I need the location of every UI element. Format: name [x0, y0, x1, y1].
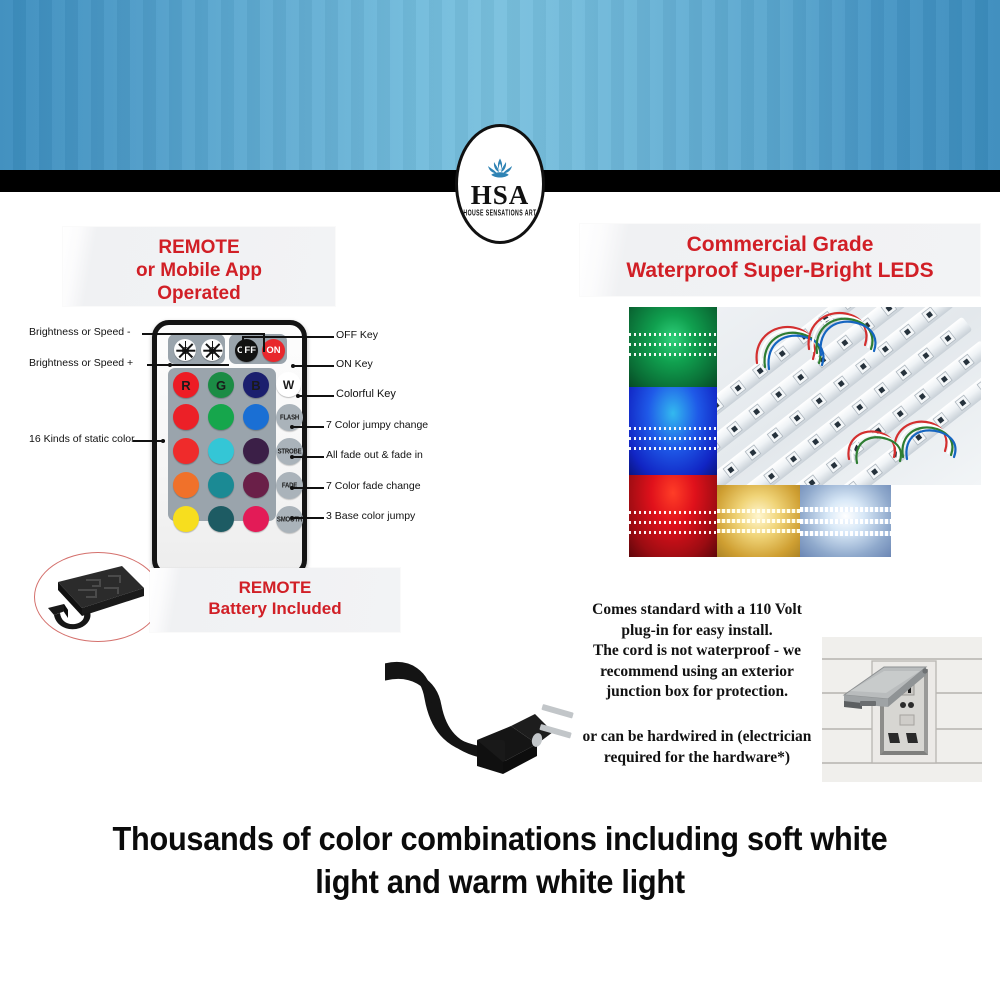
flash-button-label: FLASH — [280, 414, 299, 422]
sun-icon — [204, 342, 221, 359]
remote-button-smooth[interactable]: SMOOTH — [276, 506, 303, 533]
strobe-button-label: STROBE — [278, 448, 302, 456]
callout-on-key: ON Key — [336, 358, 373, 370]
callout-leader-line — [147, 364, 229, 366]
callout-leader-line — [292, 517, 324, 519]
off-button-label: OFF — [237, 346, 256, 356]
remote-button-on[interactable]: ON — [262, 339, 285, 362]
green-button-label: G — [216, 379, 226, 392]
callout-dot — [290, 455, 294, 459]
on-button-label: ON — [266, 346, 280, 356]
remote-button-blue[interactable]: B — [243, 372, 269, 398]
cord-text-line: Comes standard with a 110 Volt — [552, 600, 842, 621]
cool-white-led-swatch — [800, 475, 891, 557]
footer-caption-line1: Thousands of color combinations includin… — [35, 818, 965, 861]
callout-colorful-key: Colorful Key — [336, 388, 396, 400]
callout-dot — [168, 363, 172, 367]
leds-header-text: Commercial Grade Waterproof Super-Bright… — [580, 224, 980, 283]
led-photo-collage — [629, 307, 981, 585]
remote-color-button[interactable] — [243, 506, 269, 532]
remote-color-button[interactable] — [173, 404, 199, 430]
power-cord-photo — [385, 640, 600, 785]
exterior-junction-box-photo — [822, 637, 982, 782]
cord-text-line: plug-in for easy install. — [552, 621, 842, 642]
remote-color-button[interactable] — [243, 404, 269, 430]
logo-wordmark: HSA — [471, 182, 530, 209]
remote-battery-photo — [34, 552, 160, 640]
callout-static-colors: 16 Kinds of static color — [29, 433, 135, 445]
callout-leader-line — [292, 426, 324, 428]
infographic-page: HSA HOUSE SENSATIONS ART REMOTE or Mobil… — [0, 0, 1000, 1000]
brand-logo: HSA HOUSE SENSATIONS ART — [455, 124, 545, 244]
remote-color-button[interactable] — [208, 472, 234, 498]
remote-color-button[interactable] — [208, 506, 234, 532]
callout-leader-line — [292, 487, 324, 489]
rgb-led-modules-photo — [717, 307, 981, 485]
callout-dot — [290, 486, 294, 490]
green-led-swatch — [629, 307, 717, 387]
footer-caption-line2: light and warm white light — [35, 861, 965, 904]
remote-button-strobe[interactable]: STROBE — [276, 438, 303, 465]
callout-leader-line — [242, 336, 334, 338]
sun-icon — [177, 342, 194, 359]
logo-oval: HSA HOUSE SENSATIONS ART — [455, 124, 545, 244]
remote-color-button[interactable] — [208, 438, 234, 464]
callout-strobe: All fade out & fade in — [326, 449, 423, 461]
callout-leader-line — [298, 395, 334, 397]
lotus-icon — [484, 156, 516, 180]
leds-header-panel: Commercial Grade Waterproof Super-Bright… — [580, 224, 980, 296]
callout-dot — [291, 364, 295, 368]
remote-header-line1: REMOTE — [63, 236, 335, 259]
callout-brightness-up: Brightness or Speed + — [29, 357, 133, 369]
callout-fade: 7 Color fade change — [326, 480, 421, 492]
remote-color-button[interactable] — [243, 472, 269, 498]
remote-button-fade[interactable]: FADE — [276, 472, 303, 499]
red-led-swatch — [629, 475, 717, 557]
remote-color-button[interactable] — [173, 472, 199, 498]
blue-button-label: B — [251, 379, 260, 392]
callout-brightness-down: Brightness or Speed - — [29, 326, 131, 338]
warm-white-led-swatch — [717, 475, 800, 557]
blue-led-swatch — [629, 387, 717, 475]
battery-header-text: REMOTE Battery Included — [150, 568, 400, 619]
remote-header-panel: REMOTE or Mobile App Operated — [63, 227, 335, 306]
battery-header-panel: REMOTE Battery Included — [150, 568, 400, 632]
callout-dot — [296, 394, 300, 398]
remote-button-off[interactable]: OFF — [235, 339, 258, 362]
callout-leader-line — [142, 333, 264, 335]
remote-color-button[interactable] — [208, 404, 234, 430]
remote-button-green[interactable]: G — [208, 372, 234, 398]
red-button-label: R — [181, 379, 190, 392]
footer-caption: Thousands of color combinations includin… — [35, 818, 965, 904]
remote-button-red[interactable]: R — [173, 372, 199, 398]
callout-dot — [290, 425, 294, 429]
callout-leader-line — [293, 365, 334, 367]
callout-leader-line — [242, 336, 244, 353]
battery-header-line2: Battery Included — [150, 599, 400, 620]
remote-color-button[interactable] — [173, 506, 199, 532]
logo-tagline: HOUSE SENSATIONS ART — [463, 209, 536, 218]
remote-color-button[interactable] — [173, 438, 199, 464]
remote-color-button[interactable] — [243, 438, 269, 464]
battery-header-line1: REMOTE — [150, 578, 400, 599]
callout-dot — [161, 439, 165, 443]
remote-header-line3: Operated — [63, 282, 335, 305]
callout-flash: 7 Color jumpy change — [326, 419, 428, 431]
remote-button-brightness-up[interactable] — [201, 339, 223, 361]
remote-header-text: REMOTE or Mobile App Operated — [63, 227, 335, 306]
leds-header-line1: Commercial Grade — [580, 232, 980, 258]
callout-off-key: OFF Key — [336, 329, 378, 341]
white-button-label: W — [283, 379, 294, 391]
callout-smooth: 3 Base color jumpy — [326, 510, 415, 522]
remote-header-line2: or Mobile App — [63, 259, 335, 282]
callout-dot — [290, 516, 294, 520]
callout-leader-line — [292, 456, 324, 458]
remote-button-brightness-down[interactable] — [174, 339, 196, 361]
remote-control: OFF ON R G B W FLASH — [152, 320, 307, 577]
leds-header-line2: Waterproof Super-Bright LEDS — [580, 258, 980, 284]
